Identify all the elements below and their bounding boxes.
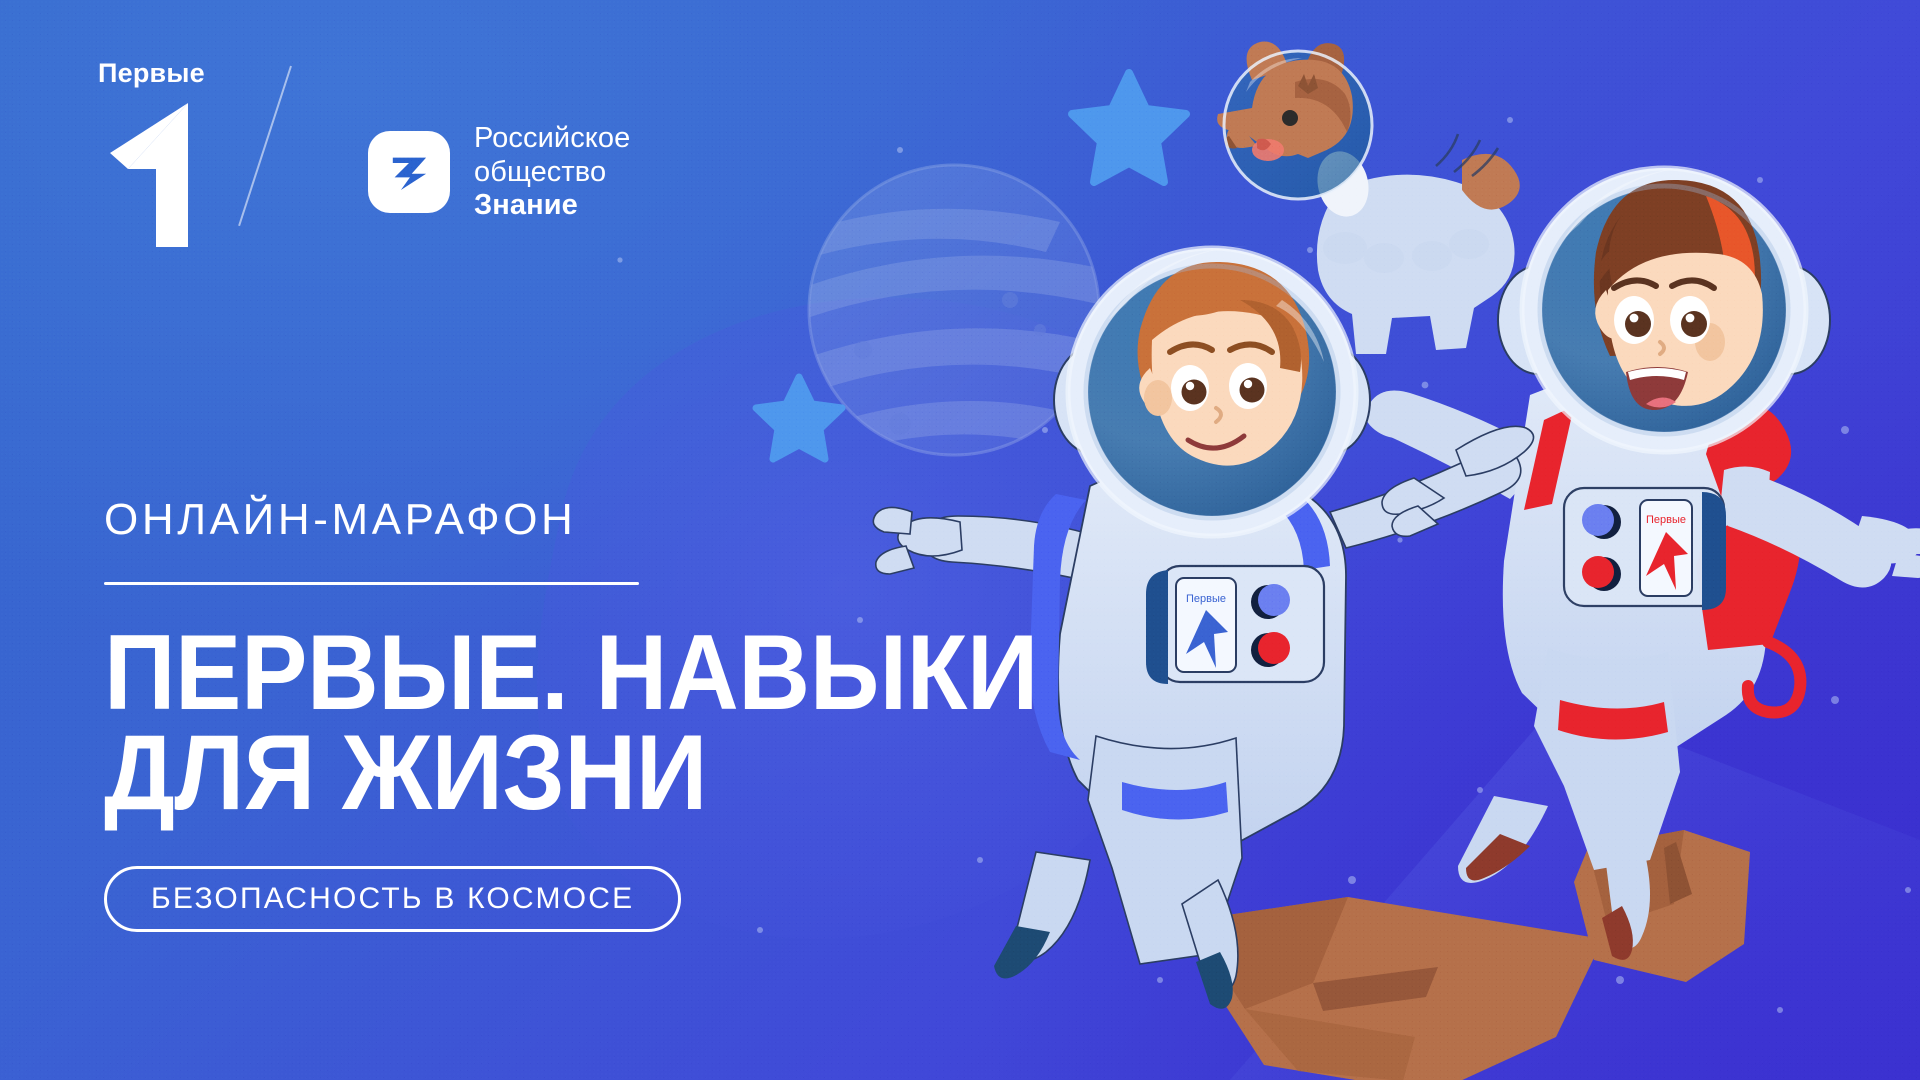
asteroid-small <box>1574 830 1750 982</box>
znanie-line-1: Российское <box>474 122 630 156</box>
znanie-line-2: общество <box>474 156 630 190</box>
znanie-line-3: Знание <box>474 189 630 223</box>
copy-divider-rule <box>104 582 639 585</box>
znanie-logo[interactable]: Российское общество Знание <box>368 122 630 223</box>
logo-divider-slash <box>238 60 358 236</box>
background-swoosh <box>1230 700 1920 1080</box>
planet-striped-icon <box>796 165 1132 456</box>
znanie-wordmark: Российское общество Знание <box>474 122 630 223</box>
girl-astronaut: Первые <box>1365 166 1920 960</box>
pervye-logo[interactable]: Первые <box>92 60 224 252</box>
star-large-icon <box>1072 73 1186 182</box>
eyebrow-text: ОНЛАЙН-МАРАФОН <box>104 498 1104 542</box>
asteroid-large <box>1188 897 1603 1080</box>
pervye-arrow-mark <box>92 97 212 247</box>
znanie-z-mark <box>368 131 450 213</box>
status-badge[interactable]: БЕЗОПАСНОСТЬ В КОСМОСЕ <box>104 866 681 932</box>
pervye-wordmark: Первые <box>98 60 224 87</box>
poster-copy: ОНЛАЙН-МАРАФОН ПЕРВЫЕ. НАВЫКИ ДЛЯ ЖИЗНИ … <box>104 498 1104 932</box>
svg-text:Первые: Первые <box>1646 514 1686 526</box>
dog-astronaut <box>1217 42 1520 354</box>
poster-canvas: Первые <box>0 0 1920 1080</box>
svg-text:Первые: Первые <box>1186 593 1226 605</box>
page-title: ПЕРВЫЕ. НАВЫКИ ДЛЯ ЖИЗНИ <box>104 623 1034 822</box>
logo-lockup: Первые Российское общество Знание <box>92 60 630 252</box>
star-small-icon <box>756 377 842 459</box>
headline-line-2: ДЛЯ ЖИЗНИ <box>104 723 1034 823</box>
